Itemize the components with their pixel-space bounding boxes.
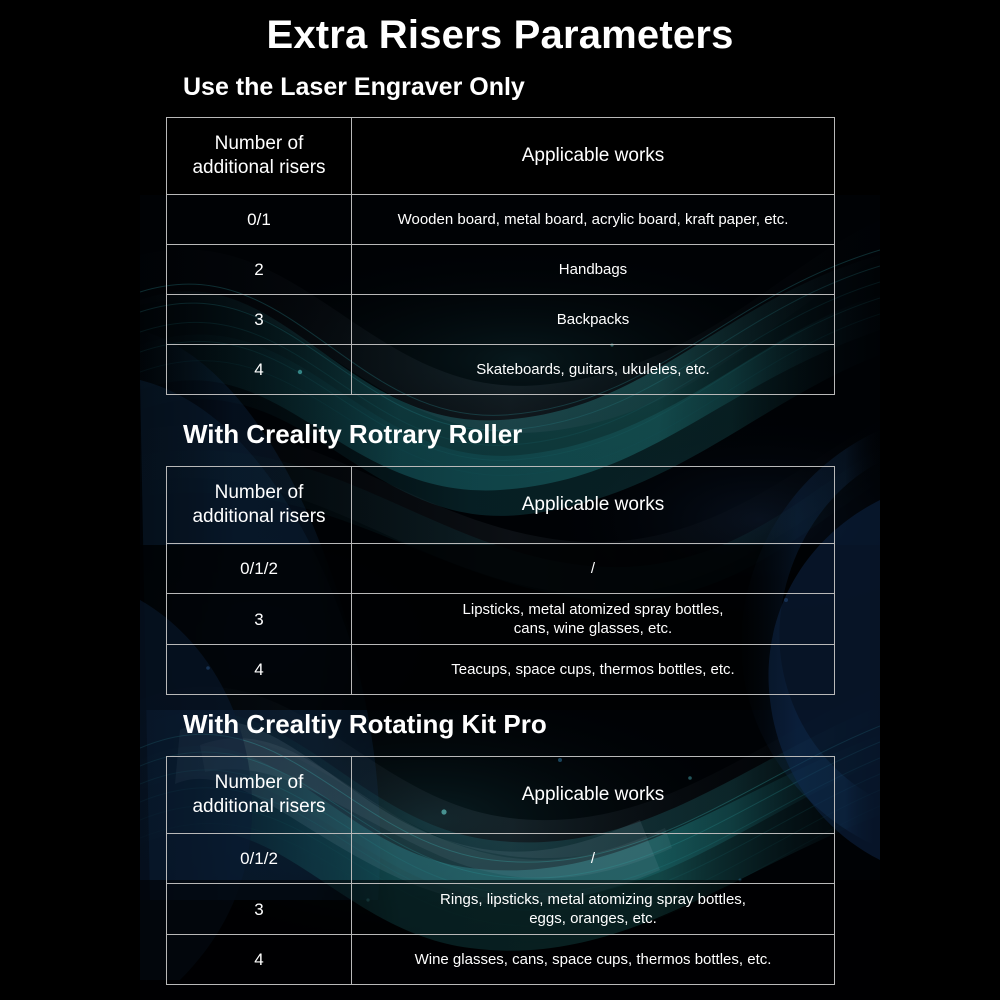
cell-risers: 2 [167, 245, 352, 295]
table-row: 4 Wine glasses, cans, space cups, thermo… [167, 935, 835, 985]
column-header-risers-line1: Number of [173, 132, 345, 156]
cell-risers: 0/1 [167, 195, 352, 245]
cell-risers: 3 [167, 884, 352, 935]
section-heading-laser-engraver: Use the Laser Engraver Only [183, 71, 525, 103]
cell-risers: 0/1/2 [167, 544, 352, 594]
cell-works-line1: Lipsticks, metal atomized spray bottles, [358, 600, 828, 619]
table-row: 3 Lipsticks, metal atomized spray bottle… [167, 594, 835, 645]
cell-works-line1: Wine glasses, cans, space cups, thermos … [358, 950, 828, 969]
table-laser-engraver: Number of additional risers Applicable w… [166, 117, 835, 395]
column-header-risers-line2: additional risers [173, 795, 345, 819]
table-header-row: Number of additional risers Applicable w… [167, 118, 835, 195]
column-header-works: Applicable works [352, 118, 835, 195]
column-header-risers-line2: additional risers [173, 156, 345, 180]
cell-risers: 4 [167, 645, 352, 695]
table-row: 0/1/2 / [167, 834, 835, 884]
cell-works: Wooden board, metal board, acrylic board… [352, 195, 835, 245]
cell-risers: 4 [167, 935, 352, 985]
table-row: 3 Backpacks [167, 295, 835, 345]
cell-works: Rings, lipsticks, metal atomizing spray … [352, 884, 835, 935]
cell-risers: 0/1/2 [167, 834, 352, 884]
cell-works-line1: / [358, 559, 828, 578]
cell-risers: 3 [167, 594, 352, 645]
cell-works: Skateboards, guitars, ukuleles, etc. [352, 345, 835, 395]
cell-works-line2: cans, wine glasses, etc. [358, 619, 828, 638]
cell-works-line1: Wooden board, metal board, acrylic board… [358, 210, 828, 229]
cell-risers: 3 [167, 295, 352, 345]
cell-works-line1: / [358, 849, 828, 868]
table-rotary-roller: Number of additional risers Applicable w… [166, 466, 835, 695]
table-row: 0/1/2 / [167, 544, 835, 594]
table-row: 0/1 Wooden board, metal board, acrylic b… [167, 195, 835, 245]
table-row: 3 Rings, lipsticks, metal atomizing spra… [167, 884, 835, 935]
column-header-risers-line1: Number of [173, 481, 345, 505]
column-header-risers: Number of additional risers [167, 757, 352, 834]
cell-works-line1: Handbags [358, 260, 828, 279]
cell-works-line1: Teacups, space cups, thermos bottles, et… [358, 660, 828, 679]
cell-works: / [352, 544, 835, 594]
cell-works-line1: Skateboards, guitars, ukuleles, etc. [358, 360, 828, 379]
section-heading-rotary-roller: With Creality Rotrary Roller [183, 418, 522, 450]
table-rotating-kit-pro: Number of additional risers Applicable w… [166, 756, 835, 985]
table-row: 4 Teacups, space cups, thermos bottles, … [167, 645, 835, 695]
table-row: 4 Skateboards, guitars, ukuleles, etc. [167, 345, 835, 395]
cell-works: Backpacks [352, 295, 835, 345]
cell-works-line1: Backpacks [358, 310, 828, 329]
column-header-risers: Number of additional risers [167, 118, 352, 195]
table-row: 2 Handbags [167, 245, 835, 295]
cell-works: Lipsticks, metal atomized spray bottles,… [352, 594, 835, 645]
cell-works: Teacups, space cups, thermos bottles, et… [352, 645, 835, 695]
column-header-risers-line2: additional risers [173, 505, 345, 529]
column-header-risers-line1: Number of [173, 771, 345, 795]
cell-works: Wine glasses, cans, space cups, thermos … [352, 935, 835, 985]
page-title: Extra Risers Parameters [0, 10, 1000, 60]
cell-works: / [352, 834, 835, 884]
column-header-risers: Number of additional risers [167, 467, 352, 544]
cell-works-line2: eggs, oranges, etc. [358, 909, 828, 928]
section-heading-rotating-kit-pro: With Crealtiy Rotating Kit Pro [183, 708, 547, 740]
table-header-row: Number of additional risers Applicable w… [167, 467, 835, 544]
cell-works: Handbags [352, 245, 835, 295]
column-header-works: Applicable works [352, 467, 835, 544]
document-page: Extra Risers Parameters Use the Laser En… [0, 0, 1000, 1000]
cell-risers: 4 [167, 345, 352, 395]
column-header-works: Applicable works [352, 757, 835, 834]
cell-works-line1: Rings, lipsticks, metal atomizing spray … [358, 890, 828, 909]
table-header-row: Number of additional risers Applicable w… [167, 757, 835, 834]
